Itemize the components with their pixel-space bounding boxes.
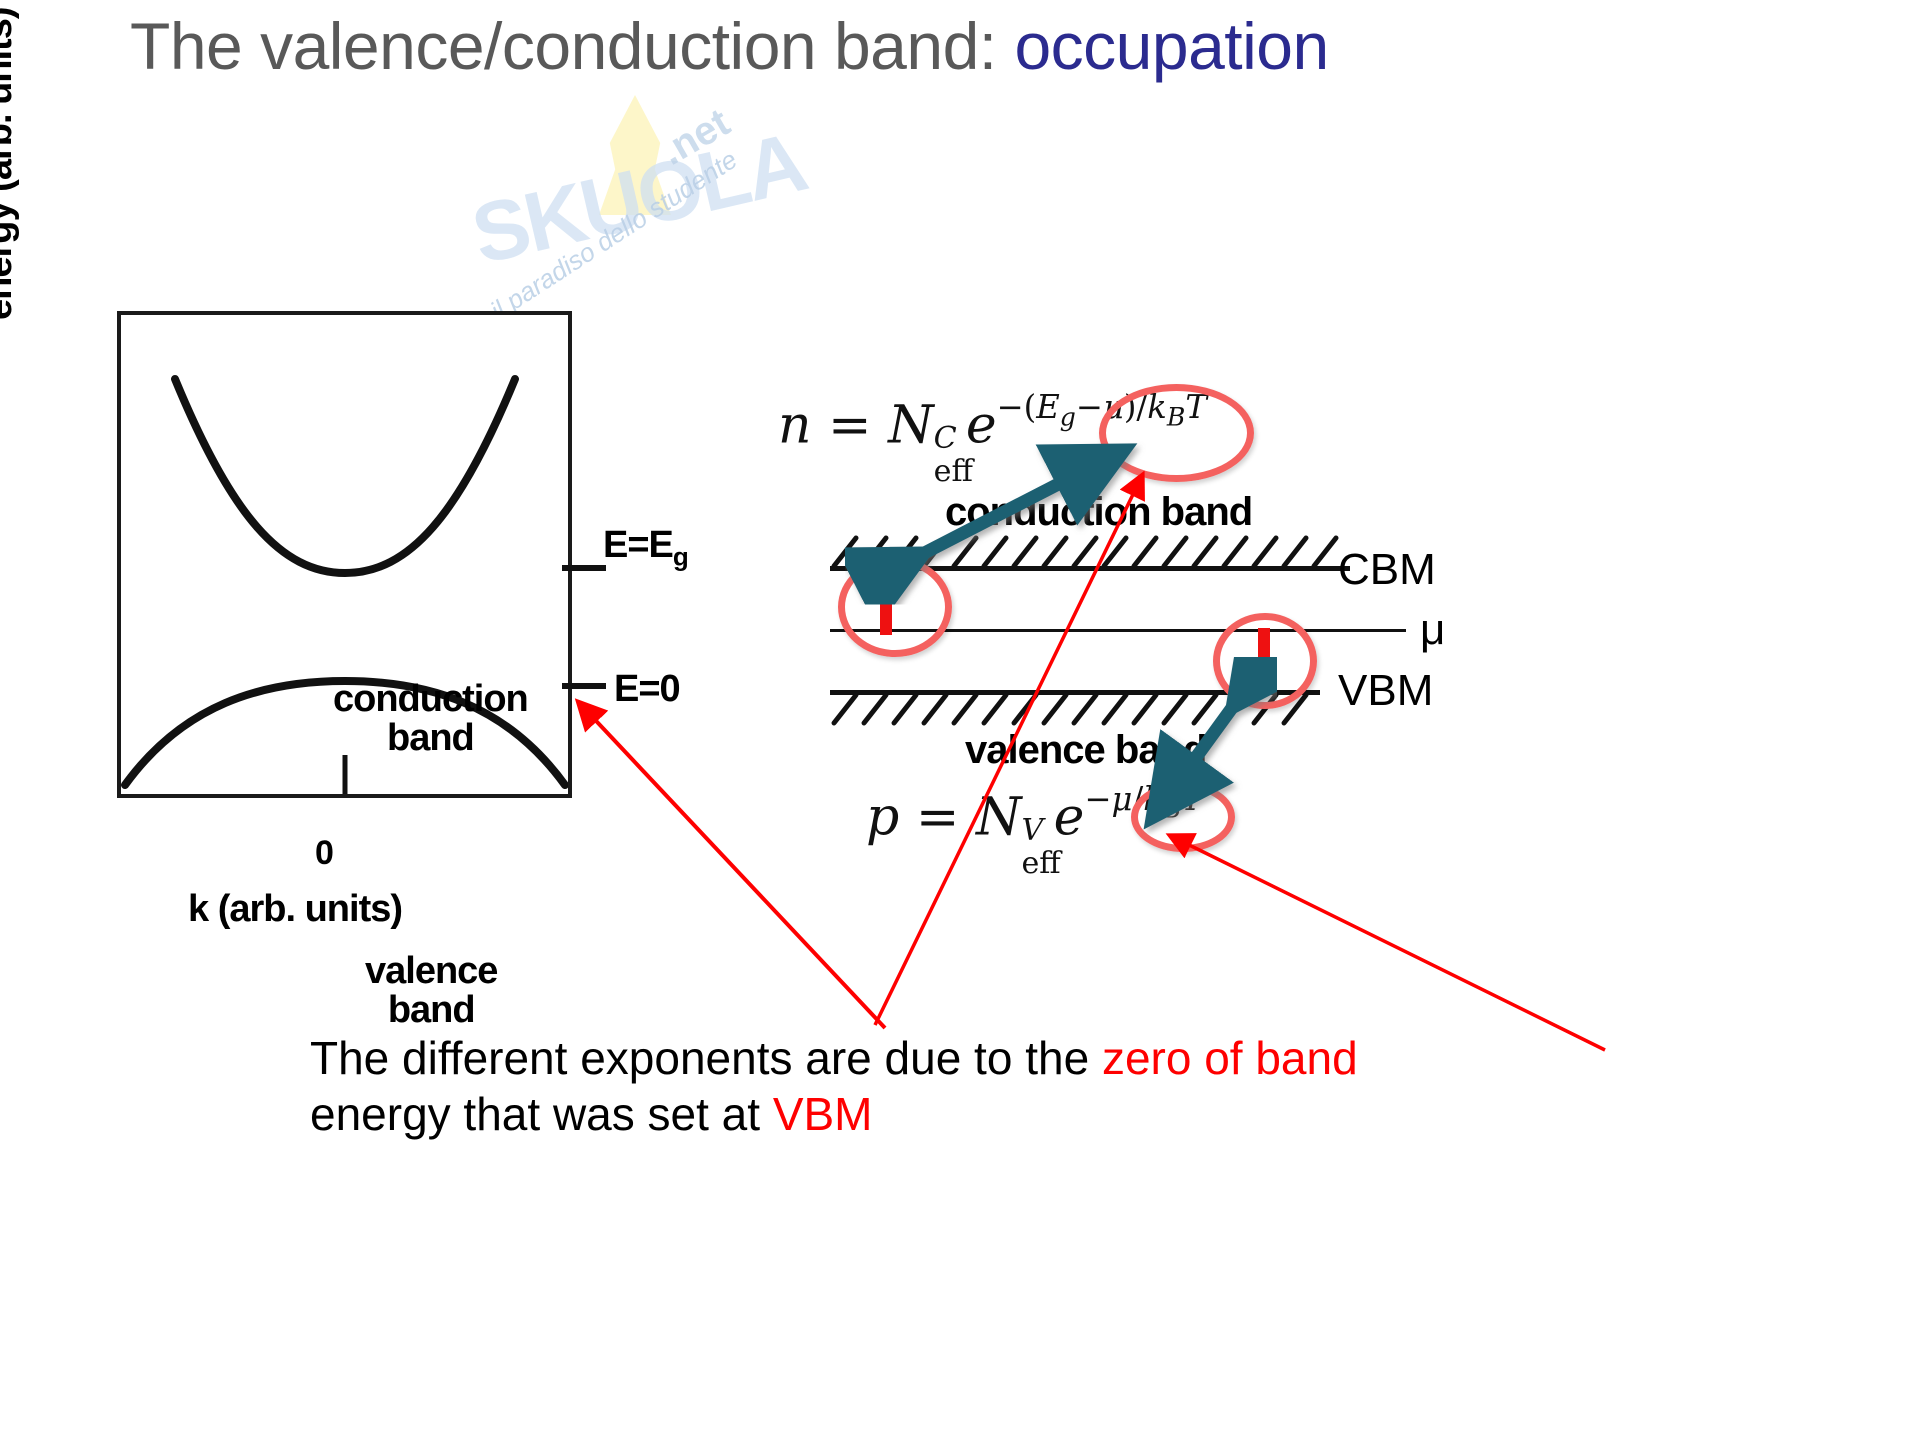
energy-gap-tick-subscript: g (673, 542, 688, 572)
flame-icon (590, 95, 680, 215)
k-origin-label: 0 (315, 834, 334, 873)
hole-density-lhs: p (866, 787, 899, 847)
band-diagram-x-axis-label: k (arb. units) (188, 888, 402, 931)
band-structure-plot: conduction band valence band (117, 311, 572, 798)
caption-line2-text: energy that was set at (310, 1088, 773, 1140)
highlight-ellipse-cbm-electron (838, 557, 952, 657)
energy-gap-tick-label: E=Eg (603, 524, 688, 573)
valence-band-label-line2: band (388, 989, 475, 1031)
valence-band-caption: valence band (965, 728, 1206, 773)
caption-line1-text: The different exponents are due to the (310, 1032, 1102, 1084)
electron-density-prefactor: N (888, 395, 934, 455)
caption-arrow-to-e-zero (583, 707, 885, 1028)
chemical-potential-label: μ (1420, 605, 1445, 655)
watermark-brand: SKUOLA (463, 113, 813, 283)
hole-density-equals: = (916, 787, 960, 847)
slide-caption: The different exponents are due to the z… (310, 1030, 1630, 1142)
conduction-band-label-line1: conduction (333, 678, 528, 720)
watermark: SKUOLA .net il paradiso dello studente (470, 95, 890, 325)
valence-band-label: valence band (365, 952, 497, 1030)
conduction-band-caption: conduction band (945, 490, 1252, 535)
energy-gap-tick-text: E=E (603, 524, 673, 566)
conduction-band-label-line2: band (387, 717, 474, 759)
conduction-band-label: conduction band (333, 680, 528, 758)
highlight-ellipse-exponent-n (1099, 384, 1254, 482)
caption-line-1: The different exponents are due to the z… (310, 1030, 1630, 1086)
exp-minus: − (997, 388, 1024, 426)
electron-density-equals: = (828, 395, 872, 455)
caption-arrow-to-p-exponent (1175, 838, 1605, 1050)
exp-eg-sub: g (1060, 403, 1076, 432)
hole-density-prefactor: N (976, 787, 1022, 847)
page-title-accent: occupation (1014, 9, 1328, 83)
electron-density-exp-base: e (966, 395, 997, 455)
exp-open-paren: ( (1024, 388, 1037, 426)
band-diagram-y-axis-label: energy (arb. units) (0, 8, 21, 321)
watermark-tagline: il paradiso dello studente (485, 144, 743, 327)
electron-density-prefactor-subscript: eff (934, 454, 973, 489)
page-title-main: The valence/conduction band: (130, 9, 1014, 83)
highlight-ellipse-vbm-hole (1213, 613, 1317, 709)
hexp-mu: μ (1111, 780, 1132, 818)
valence-band-label-line1: valence (365, 950, 497, 992)
caption-line1-highlight: zero of band (1102, 1032, 1358, 1084)
page-title: The valence/conduction band: occupation (130, 8, 1329, 84)
hole-density-prefactor-subscript: eff (1021, 846, 1060, 881)
hexp-minus: − (1084, 780, 1111, 818)
conduction-band-curve (175, 379, 515, 573)
exp-dash: − (1076, 388, 1103, 426)
electron-density-prefactor-superscript: C (934, 421, 957, 456)
energy-zero-tick-label: E=0 (614, 668, 680, 711)
watermark-domain: .net (654, 100, 738, 175)
cbm-label: CBM (1338, 545, 1436, 595)
caption-line2-highlight: VBM (773, 1088, 873, 1140)
vbm-label: VBM (1338, 666, 1433, 716)
electron-density-lhs: n (778, 395, 812, 455)
caption-line-2: energy that was set at VBM (310, 1086, 1630, 1142)
hole-density-exp-base: e (1054, 787, 1085, 847)
hole-density-prefactor-superscript: V (1021, 813, 1043, 848)
exp-eg: E (1036, 388, 1060, 426)
highlight-ellipse-exponent-p (1131, 782, 1235, 852)
slide-canvas: The valence/conduction band: occupation … (0, 0, 1920, 1440)
